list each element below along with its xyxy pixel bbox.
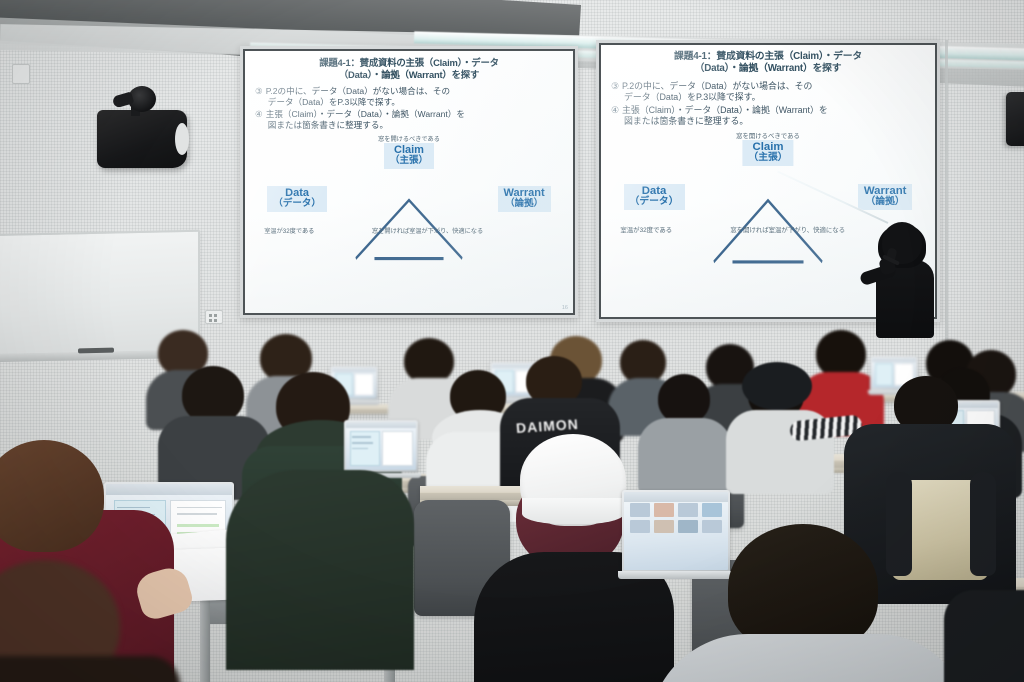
slide-bullet-4: ④ 主張（Claim）・データ（Data）・論拠（Warrant）を 図または箇… bbox=[255, 109, 563, 131]
bullet-3-right-line2: データ（Data）をP.3以降で探す。 bbox=[622, 92, 812, 103]
slide-title-right: 課題4-1：賛成資料の主張（Claim）・データ （Data）・論拠（Warra… bbox=[611, 51, 925, 76]
projection-screen-left: 課題4-1：賛成資料の主張（Claim）・データ （Data）・論拠（Warra… bbox=[240, 46, 578, 318]
bullet-text-3: P.2の中に、データ（Data）がない場合は、その データ（Data）をP.3以… bbox=[266, 86, 450, 108]
bullet-4-right-line2: 図または箇条書きに整理する。 bbox=[622, 116, 828, 127]
warrant-box-right: Warrant （論拠） bbox=[858, 184, 913, 210]
slide-title-line2: （Data）・論拠（Warrant）を探す bbox=[255, 69, 563, 81]
toulmin-diagram: 窓を開けるべきである Claim （主張） Data （データ） bbox=[255, 134, 563, 313]
slide-bullet-list: ③ P.2の中に、データ（Data）がない場合は、その データ（Data）をP.… bbox=[255, 86, 563, 133]
laptop-middle-1 bbox=[344, 420, 418, 472]
data-caption: 室温が32度である bbox=[264, 226, 314, 235]
slide-bullet-4-right: ④ 主張（Claim）・データ（Data）・論拠（Warrant）を 図または箇… bbox=[611, 105, 925, 127]
bullet-number-4-right: ④ bbox=[611, 105, 619, 116]
bullet-text-4: 主張（Claim）・データ（Data）・論拠（Warrant）を 図または箇条書… bbox=[266, 109, 465, 131]
slide-page-number: 16 bbox=[562, 305, 568, 311]
slide-left: 課題4-1：賛成資料の主張（Claim）・データ （Data）・論拠（Warra… bbox=[245, 51, 573, 313]
bullet-3-line1: P.2の中に、データ（Data）がない場合は、その bbox=[266, 86, 450, 96]
desk-leg-1 bbox=[200, 590, 210, 682]
bullet-4-line2: 図または箇条書きに整理する。 bbox=[266, 120, 465, 131]
data-caption-right: 室温が32度である bbox=[620, 225, 672, 234]
warrant-label-jp-right: （論拠） bbox=[864, 197, 907, 208]
bullet-number-3-right: ③ bbox=[611, 81, 619, 92]
slide-title: 課題4-1：賛成資料の主張（Claim）・データ （Data）・論拠（Warra… bbox=[255, 57, 563, 81]
backpack-strap-left bbox=[886, 472, 912, 576]
wall-plate bbox=[12, 64, 30, 84]
slide-title-line1: 課題4-1：賛成資料の主張（Claim）・データ bbox=[319, 57, 499, 68]
slide-bullet-list-right: ③ P.2の中に、データ（Data）がない場合は、その データ（Data）をP.… bbox=[611, 81, 925, 130]
bullet-4-right-line1: 主張（Claim）・データ（Data）・論拠（Warrant）を bbox=[622, 105, 828, 115]
bullet-number-4: ④ bbox=[255, 109, 263, 120]
slide-bullet-3: ③ P.2の中に、データ（Data）がない場合は、その データ（Data）をP.… bbox=[255, 86, 563, 108]
lecture-hall-photo: 課題4-1：賛成資料の主張（Claim）・データ （Data）・論拠（Warra… bbox=[0, 0, 1024, 682]
data-label-jp-right: （データ） bbox=[630, 197, 679, 208]
wall-power-socket bbox=[205, 310, 223, 324]
right-wall-speaker bbox=[1006, 92, 1024, 146]
presenter bbox=[856, 222, 952, 334]
bullet-number-3: ③ bbox=[255, 86, 263, 97]
bullet-text-4-right: 主張（Claim）・データ（Data）・論拠（Warrant）を 図または箇条書… bbox=[622, 105, 828, 127]
warrant-caption: 窓を開ければ室温が下がり、快適になる bbox=[372, 226, 483, 235]
data-box-right: Data （データ） bbox=[624, 184, 685, 210]
wall-speaker bbox=[97, 110, 187, 168]
beanie-brim bbox=[522, 498, 624, 524]
whiteboard-marker bbox=[78, 348, 114, 354]
screen-inner-left: 課題4-1：賛成資料の主張（Claim）・データ （Data）・論拠（Warra… bbox=[243, 49, 575, 315]
warrant-label-jp: （論拠） bbox=[504, 199, 545, 209]
bullet-3-line2: データ（Data）をP.3以降で探す。 bbox=[266, 97, 450, 108]
data-box: Data （データ） bbox=[267, 186, 327, 212]
bullet-3-right-line1: P.2の中に、データ（Data）がない場合は、その bbox=[622, 81, 812, 91]
bullet-4-line1: 主張（Claim）・データ（Data）・論拠（Warrant）を bbox=[266, 109, 465, 119]
warrant-box: Warrant （論拠） bbox=[498, 186, 551, 212]
slide-title-right-line1: 課題4-1：賛成資料の主張（Claim）・データ bbox=[674, 51, 862, 62]
bullet-text-3-right: P.2の中に、データ（Data）がない場合は、その データ（Data）をP.3以… bbox=[622, 81, 812, 103]
data-label-jp: （データ） bbox=[273, 199, 321, 209]
backpack-strap-right bbox=[970, 472, 996, 576]
slide-title-right-line2: （Data）・論拠（Warrant）を探す bbox=[611, 63, 925, 75]
slide-bullet-3-right: ③ P.2の中に、データ（Data）がない場合は、その データ（Data）をP.… bbox=[611, 81, 925, 103]
triangle-connector bbox=[255, 134, 563, 313]
warrant-caption-right: 窓を開ければ室温が下がり、快適になる bbox=[730, 225, 845, 234]
laptop-front-right bbox=[622, 490, 730, 572]
